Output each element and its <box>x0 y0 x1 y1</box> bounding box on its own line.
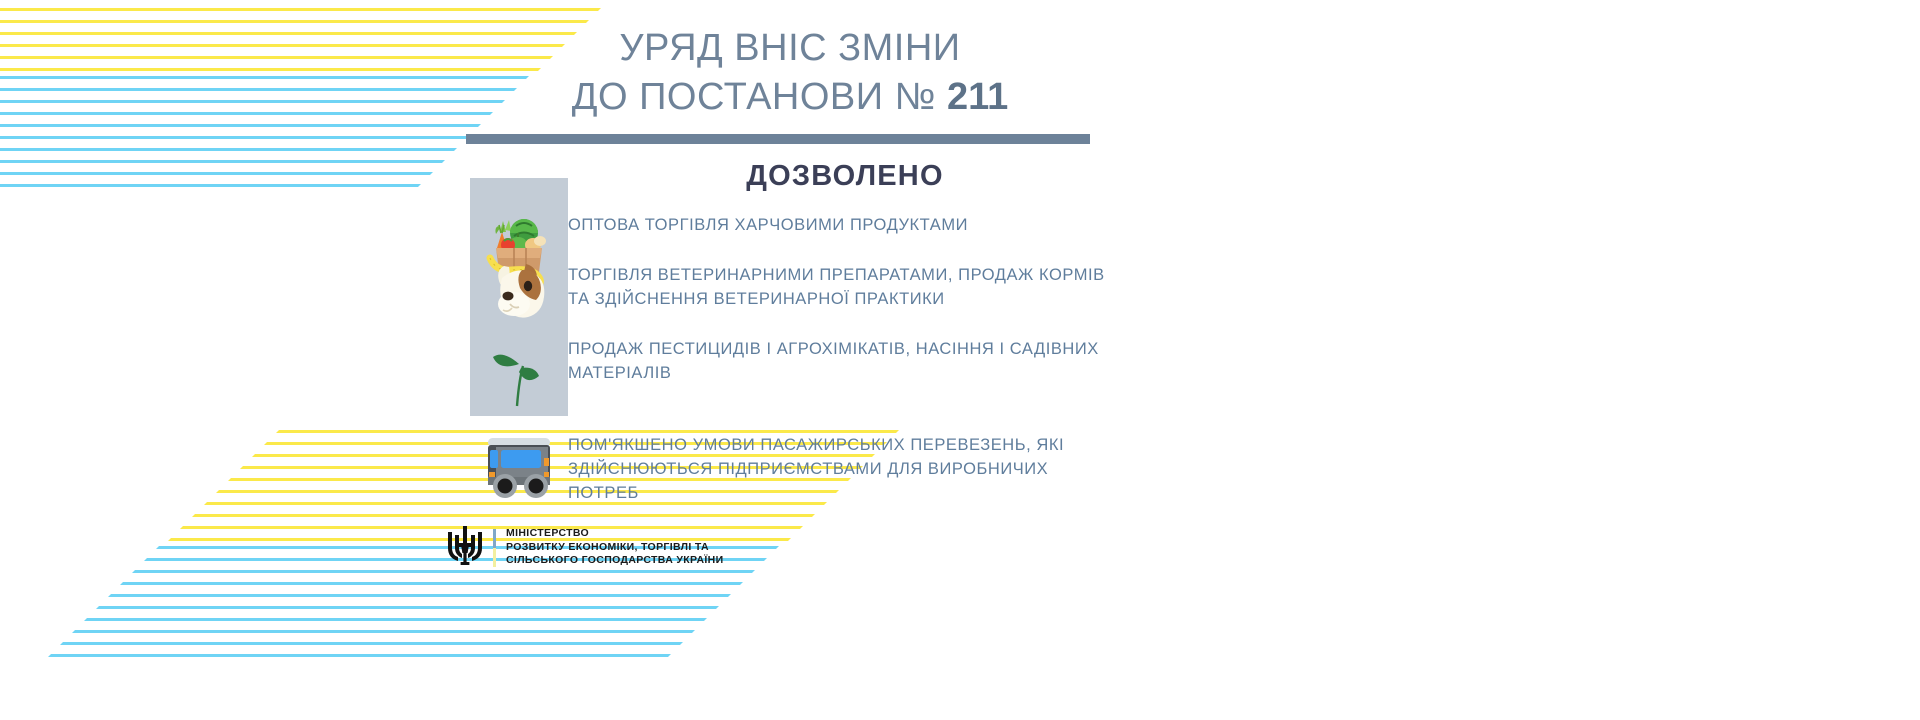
slide-canvas: УРЯД ВНІС ЗМІНИ ДО ПОСТАНОВИ № 211 ДОЗВО… <box>0 0 1920 720</box>
ministry-logo-line-3: СІЛЬСЬКОГО ГОСПОДАРСТВА УКРАЇНИ <box>506 554 723 568</box>
ministry-logo: МІНІСТЕРСТВО РОЗВИТКУ ЕКОНОМІКИ, ТОРГІВЛ… <box>446 524 723 571</box>
list-item: ПРОДАЖ ПЕСТИЦИДІВ І АГРОХІМІКАТІВ, НАСІН… <box>470 332 1130 408</box>
logo-divider-rule <box>493 529 496 567</box>
bus-icon <box>470 428 568 502</box>
title-line-2-prefix: ДО ПОСТАНОВИ № <box>572 76 947 118</box>
title-line-1: УРЯД ВНІС ЗМІНИ <box>470 24 1110 73</box>
ukraine-tryzub-icon <box>446 524 484 571</box>
header-divider <box>466 134 1090 144</box>
list-item-label: ОПТОВА ТОРГІВЛЯ ХАРЧОВИМИ ПРОДУКТАМИ <box>568 208 968 238</box>
list-item-label: ТОРГІВЛЯ ВЕТЕРИНАРНИМИ ПРЕПАРАТАМИ, ПРОД… <box>568 258 1108 312</box>
list-item: ПОМ'ЯКШЕНО УМОВИ ПАСАЖИРСЬКИХ ПЕРЕВЕЗЕНЬ… <box>470 428 1130 506</box>
list-item-label: ПОМ'ЯКШЕНО УМОВИ ПАСАЖИРСЬКИХ ПЕРЕВЕЗЕНЬ… <box>568 428 1108 506</box>
ministry-logo-line-1: МІНІСТЕРСТВО <box>506 527 723 541</box>
title-line-2: ДО ПОСТАНОВИ № 211 <box>470 73 1110 122</box>
ministry-logo-line-2: РОЗВИТКУ ЕКОНОМІКИ, ТОРГІВЛІ ТА <box>506 541 723 555</box>
stripe-band-cyan <box>0 76 529 194</box>
list-item-label: ПРОДАЖ ПЕСТИЦИДІВ І АГРОХІМІКАТІВ, НАСІН… <box>568 332 1108 386</box>
ministry-logo-text: МІНІСТЕРСТВО РОЗВИТКУ ЕКОНОМІКИ, ТОРГІВЛ… <box>506 527 723 569</box>
allowed-section-heading: ДОЗВОЛЕНО <box>580 160 1110 193</box>
resolution-number: 211 <box>947 76 1008 118</box>
seedling-icon <box>470 332 568 408</box>
slide-header: УРЯД ВНІС ЗМІНИ ДО ПОСТАНОВИ № 211 <box>470 24 1110 123</box>
list-item: ТОРГІВЛЯ ВЕТЕРИНАРНИМИ ПРЕПАРАТАМИ, ПРОД… <box>470 258 1130 324</box>
dog-face-icon <box>470 258 568 324</box>
